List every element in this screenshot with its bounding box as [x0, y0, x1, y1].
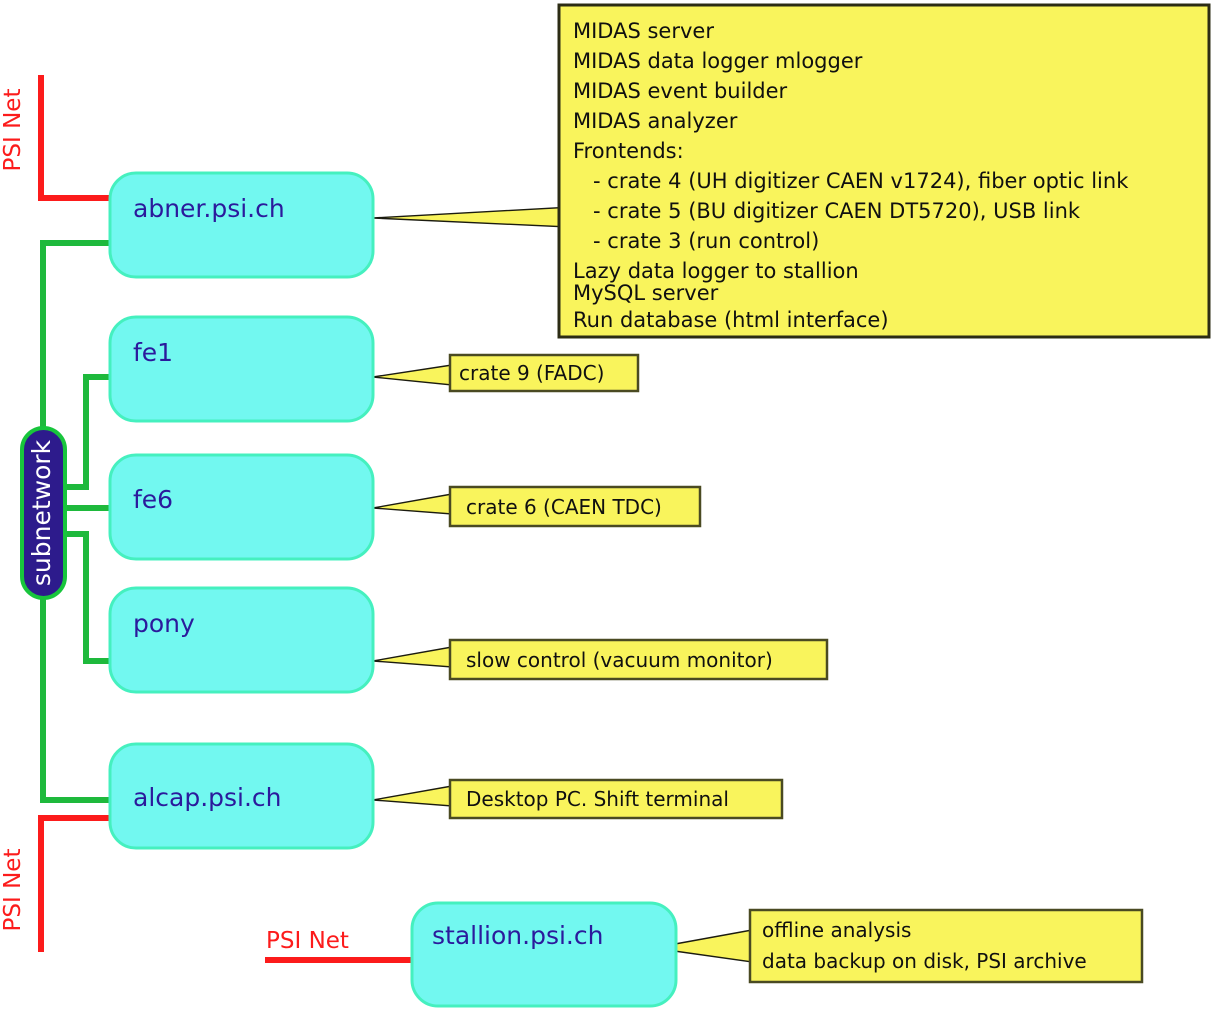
annotation-abner-line-5: - crate 4 (UH digitizer CAEN v1724), fib…: [573, 169, 1129, 193]
leader-abner: [373, 206, 590, 228]
psi-net-label-top: PSI Net: [0, 89, 26, 172]
node-fe6[interactable]: fe6: [110, 455, 373, 559]
annotation-pony-line-0: slow control (vacuum monitor): [466, 648, 773, 672]
node-alcap[interactable]: alcap.psi.ch: [110, 744, 373, 848]
annotation-abner[interactable]: MIDAS server MIDAS data logger mlogger M…: [559, 5, 1209, 337]
link-subnet-to-fe1: [62, 377, 112, 487]
node-fe1-label: fe1: [133, 338, 173, 367]
leader-fe6: [373, 494, 452, 514]
annotation-abner-line-0: MIDAS server: [573, 19, 714, 43]
node-pony-shape: [110, 588, 373, 692]
annotation-abner-line-7: - crate 3 (run control): [573, 229, 819, 253]
annotation-abner-line-2: MIDAS event builder: [573, 79, 788, 103]
annotation-fe1-line-0: crate 9 (FADC): [459, 361, 604, 385]
node-fe1[interactable]: fe1: [110, 317, 373, 421]
annotation-fe6-line-0: crate 6 (CAEN TDC): [466, 495, 662, 519]
psi-net-label-bottom-left: PSI Net: [0, 849, 26, 932]
annotation-pony[interactable]: slow control (vacuum monitor): [450, 640, 827, 679]
annotation-abner-line-9: MySQL server: [573, 281, 719, 305]
annotation-abner-line-4: Frontends:: [573, 139, 684, 163]
leader-fe1: [373, 365, 452, 385]
link-abner-to-subnet: [43, 243, 112, 430]
annotation-alcap[interactable]: Desktop PC. Shift terminal: [450, 780, 782, 818]
node-pony[interactable]: pony: [110, 588, 373, 692]
leader-alcap: [373, 786, 452, 806]
network-diagram-canvas: subnetwork PSI Net PSI Net PSI Net abner…: [0, 0, 1212, 1016]
subnetwork-label: subnetwork: [27, 439, 56, 586]
node-stallion-shape: [412, 903, 676, 1006]
annotation-stallion-line-1: data backup on disk, PSI archive: [762, 949, 1087, 973]
node-abner-shape: [110, 173, 373, 277]
annotation-fe6[interactable]: crate 6 (CAEN TDC): [450, 487, 700, 526]
annotation-alcap-line-0: Desktop PC. Shift terminal: [466, 787, 729, 811]
node-pony-label: pony: [133, 609, 195, 638]
annotation-abner-line-3: MIDAS analyzer: [573, 109, 738, 133]
node-alcap-label: alcap.psi.ch: [133, 783, 282, 812]
subnetwork-node[interactable]: subnetwork: [22, 428, 65, 598]
node-fe1-shape: [110, 317, 373, 421]
link-subnet-to-pony: [62, 534, 112, 661]
annotation-fe1[interactable]: crate 9 (FADC): [450, 355, 638, 391]
node-abner[interactable]: abner.psi.ch: [110, 173, 373, 277]
annotation-stallion-line-0: offline analysis: [762, 918, 911, 942]
annotation-stallion[interactable]: offline analysis data backup on disk, PS…: [750, 910, 1142, 982]
annotation-abner-line-6: - crate 5 (BU digitizer CAEN DT5720), US…: [573, 199, 1081, 223]
psi-net-link-top: [41, 75, 112, 198]
annotation-abner-line-10: Run database (html interface): [573, 308, 889, 332]
psi-net-bottom-line: [41, 818, 112, 952]
psi-net-link-bottom: [41, 818, 112, 952]
annotation-abner-line-8: Lazy data logger to stallion: [573, 259, 859, 283]
psi-net-label-stallion: PSI Net: [266, 928, 349, 954]
node-fe6-label: fe6: [133, 485, 173, 514]
node-stallion[interactable]: stallion.psi.ch: [412, 903, 676, 1006]
psi-net-top-line: [41, 75, 112, 198]
leader-pony: [373, 647, 452, 667]
annotation-abner-line-1: MIDAS data logger mlogger: [573, 49, 863, 73]
node-abner-label: abner.psi.ch: [133, 194, 285, 223]
node-stallion-label: stallion.psi.ch: [432, 921, 603, 950]
link-subnet-to-alcap: [43, 596, 112, 800]
network-diagram: subnetwork PSI Net PSI Net PSI Net abner…: [0, 0, 1212, 1016]
